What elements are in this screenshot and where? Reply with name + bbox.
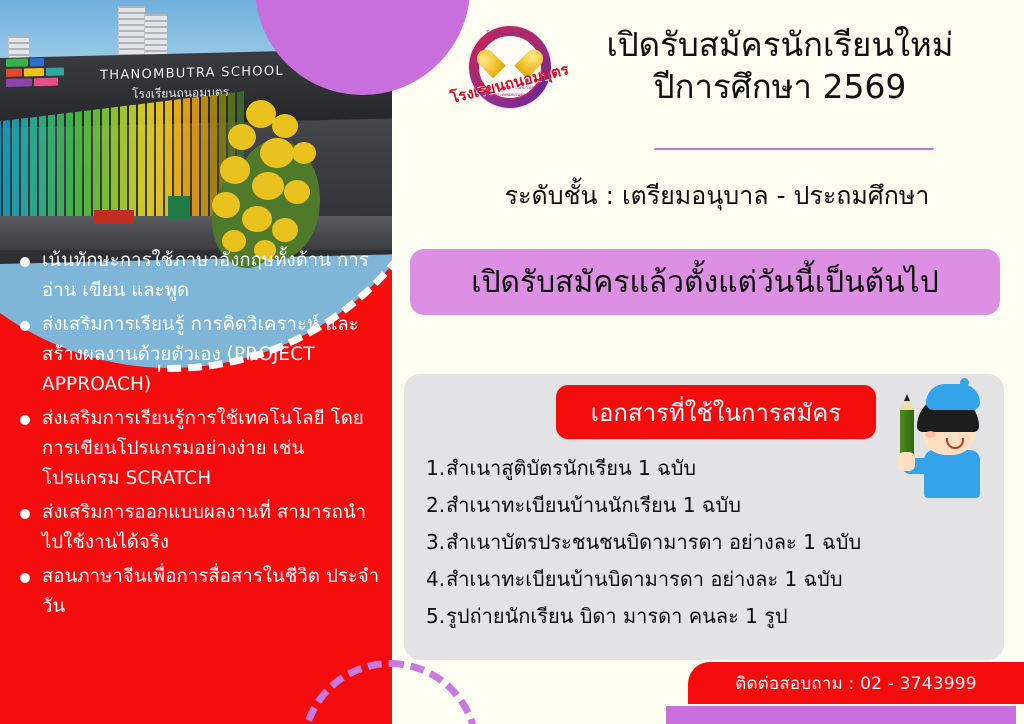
contact-bar: ติดต่อสอบถาม : 02 - 3743999 [688,662,1024,704]
title-divider [654,148,934,150]
item-text: สำเนาบัตรประชนชนบิดามารดา อย่างละ 1 ฉบับ [446,524,861,561]
list-item: 3. สำเนาบัตรประชนชนบิดามารดา อย่างละ 1 ฉ… [426,524,986,561]
bottom-purple-bar [666,706,1016,724]
feature-text: เน้นทักษะการใช้ภาษาอังกฤษทั้งด้าน การอ่า… [42,246,386,306]
beret-icon [926,384,980,410]
list-item: 4. สำเนาทะเบียนบ้านบิดามารดา อย่างละ 1 ฉ… [426,561,986,598]
list-item: เน้นทักษะการใช้ภาษาอังกฤษทั้งด้าน การอ่า… [14,246,386,306]
item-number: 2. [426,487,445,524]
list-item: สอนภาษาจีนเพื่อการสื่อสารในชีวิต ประจำวั… [14,562,386,622]
features-list: เน้นทักษะการใช้ภาษาอังกฤษทั้งด้าน การอ่า… [14,246,386,626]
list-item: ส่งเสริมการเรียนรู้ การคิดวิเคราะห์ และส… [14,310,386,400]
item-number: 4. [426,561,445,598]
feature-text: สอนภาษาจีนเพื่อการสื่อสารในชีวิต ประจำวั… [42,562,386,622]
school-logo: โรงเรียนถนอมบุตร แขวงรามอินทรา เขตบางเขน… [455,22,561,128]
list-item: 5. รูปถ่ายนักเรียน บิดา มารดา คนละ 1 รูป [426,598,986,635]
item-text: สำเนาสูติบัตรนักเรียน 1 ฉบับ [446,450,696,487]
admission-poster: THANOMBUTRA SCHOOL โรงเรียนถนอมบุตร [0,0,1024,724]
bullet-icon [20,415,30,425]
item-text: สำเนาทะเบียนบ้านนักเรียน 1 ฉบับ [446,487,741,524]
documents-title-text: เอกสารที่ใช้ในการสมัคร [591,393,841,432]
list-item: ส่งเสริมการเรียนรู้การใช้เทคโนโลยี โดยกา… [14,404,386,494]
item-text: รูปถ่ายนักเรียน บิดา มารดา คนละ 1 รูป [446,598,788,635]
logo-arc-top-text: โรงเรียนถนอมบุตร [475,30,545,54]
left-red-panel: THANOMBUTRA SCHOOL โรงเรียนถนอมบุตร [0,0,392,724]
open-now-text: เปิดรับสมัครแล้วตั้งแต่วันนี้เป็นต้นไป [471,259,939,306]
documents-title-badge: เอกสารที่ใช้ในการสมัคร [556,385,876,439]
contact-text: ติดต่อสอบถาม : 02 - 3743999 [735,670,977,697]
page-title: เปิดรับสมัครนักเรียนใหม่ ปีการศึกษา 2569 [560,24,1000,108]
documents-list: 1. สำเนาสูติบัตรนักเรียน 1 ฉบับ 2. สำเนา… [426,450,986,635]
documents-panel: เอกสารที่ใช้ในการสมัคร 1. สำเนาสูติบัตรน… [404,374,1004,660]
bullet-icon [20,573,30,583]
feature-text: ส่งเสริมการออกแบบผลงานที่ สามารถนำไปใช้ง… [42,498,386,558]
item-number: 3. [426,524,445,561]
feature-text: ส่งเสริมการเรียนรู้ การคิดวิเคราะห์ และส… [42,310,386,400]
mascot-cheek [925,431,936,438]
bullet-icon [20,509,30,519]
list-item: 1. สำเนาสูติบัตรนักเรียน 1 ฉบับ [426,450,986,487]
item-number: 5. [426,598,445,635]
mascot-eye-left [933,422,943,432]
open-now-banner: เปิดรับสมัครแล้วตั้งแต่วันนี้เป็นต้นไป [410,249,1000,315]
bullet-icon [20,321,30,331]
list-item: 2. สำเนาทะเบียนบ้านนักเรียน 1 ฉบับ [426,487,986,524]
rainbow-signboard [4,55,84,91]
feature-text: ส่งเสริมการเรียนรู้การใช้เทคโนโลยี โดยกา… [42,404,386,494]
bullet-icon [20,257,30,267]
canopy-red [94,210,134,224]
title-line-1: เปิดรับสมัครนักเรียนใหม่ [560,24,1000,66]
beret-nub [960,378,969,387]
subtitle: ระดับชั้น : เตรียมอนุบาล - ประถมศึกษา [410,176,1024,216]
list-item: ส่งเสริมการออกแบบผลงานที่ สามารถนำไปใช้ง… [14,498,386,558]
item-number: 1. [426,450,445,487]
pencil-lead-icon [904,394,910,401]
item-text: สำเนาทะเบียนบ้านบิดามารดา อย่างละ 1 ฉบับ [446,561,842,598]
title-line-2: ปีการศึกษา 2569 [560,66,1000,108]
